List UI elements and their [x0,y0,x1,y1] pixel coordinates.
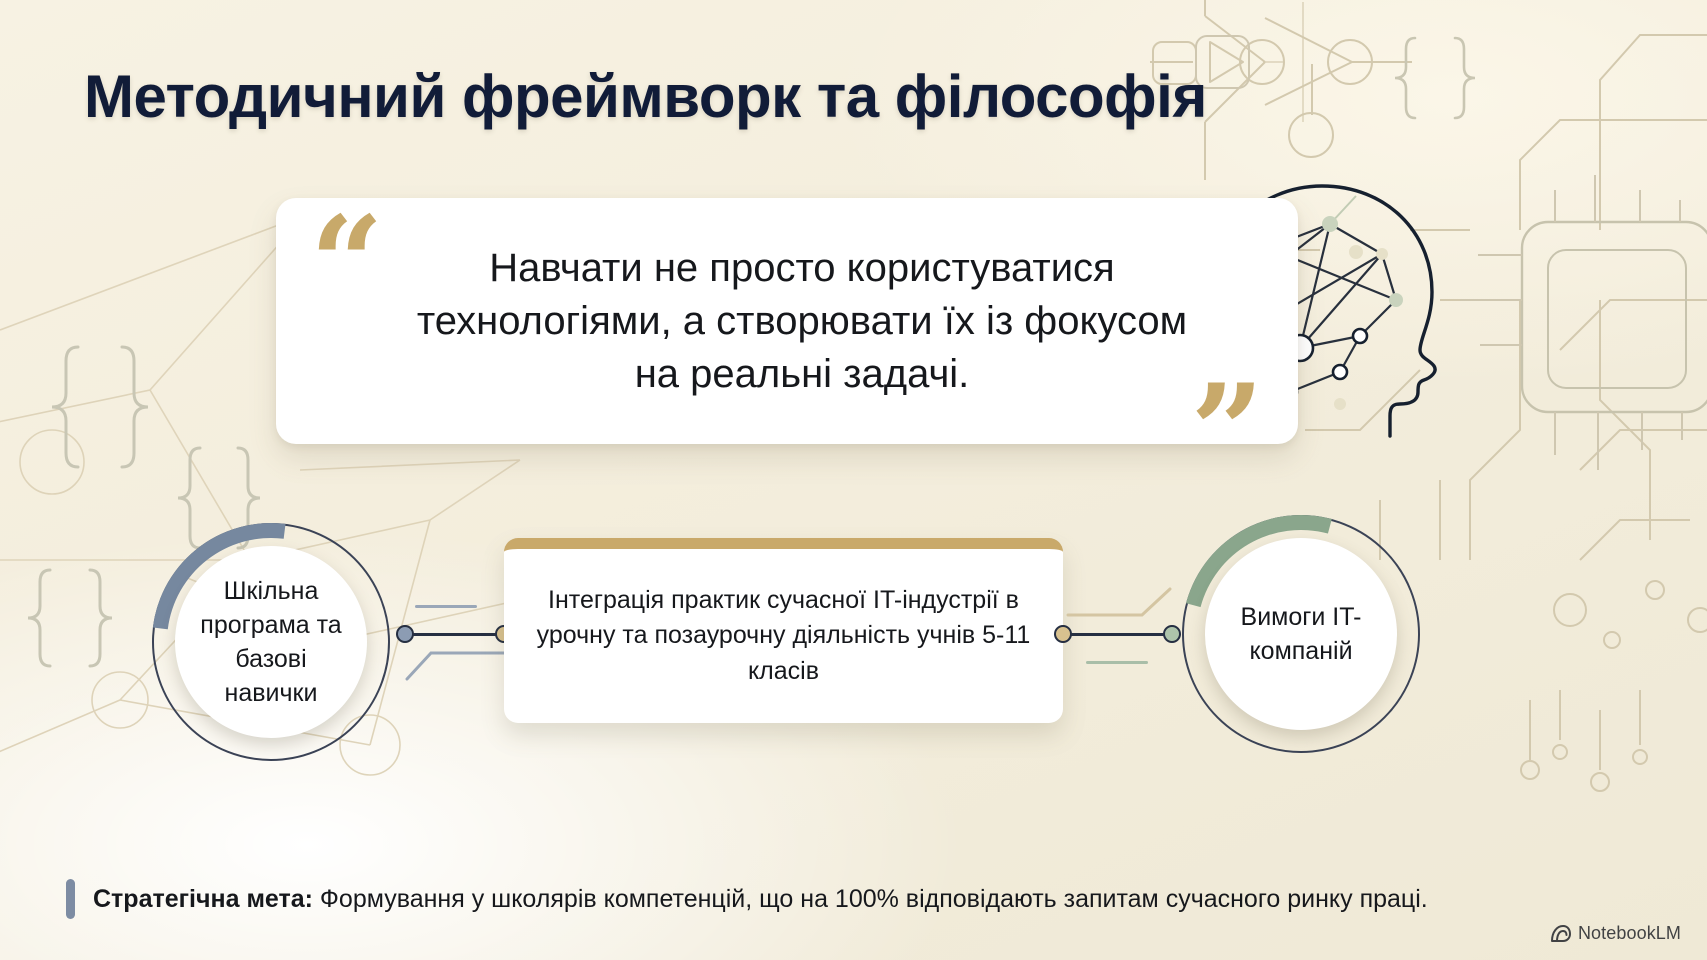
decor-svg [0,0,1707,960]
decor-chip-pins [1460,175,1707,470]
connector-right-bend [1066,587,1176,635]
notebooklm-spiral-icon [1549,924,1571,944]
flow-node-left[interactable]: Шкільна програма та базові навички [152,523,390,761]
notebooklm-watermark: NotebookLM [1549,923,1681,944]
flow-node-right[interactable]: Вимоги IT-компаній [1182,515,1420,753]
quote-text: Навчати не просто користуватися технолог… [392,242,1212,402]
connector-dot-right-inner [1054,625,1072,643]
slide-root: Методичний фреймворк та філософія “ Навч… [0,0,1707,960]
right-node-inner: Вимоги IT-компаній [1205,538,1397,730]
footer-body: Формування у школярів компетенцій, що на… [313,885,1428,913]
center-node-label: Інтеграція практик сучасної IT-індустрії… [526,583,1041,690]
quote-card: “ Навчати не просто користуватися технол… [276,198,1298,444]
footer-accent-bar [66,879,75,919]
decor-cpu-chip [1522,222,1707,412]
left-node-label: Шкільна програма та базові навички [187,574,355,710]
connector-right-deco-line [1086,661,1148,664]
left-node-inner: Шкільна програма та базові навички [175,546,367,738]
flow-diagram: Шкільна програма та базові навички Інтег… [0,505,1707,765]
decor-curly-braces-top-right [1395,38,1475,118]
quote-close-mark: ” [1190,368,1264,496]
watermark-label: NotebookLM [1578,923,1681,944]
footer-label: Стратегічна мета: [93,885,313,913]
page-title: Методичний фреймворк та філософія [84,62,1207,131]
decor-curly-braces-left [52,347,148,467]
connector-left-deco-line [415,605,477,608]
quote-open-mark: “ [310,200,384,328]
connector-dot-right-outer [1163,625,1181,643]
connector-dot-left-outer [396,625,414,643]
footer-strategic-goal: Стратегічна мета: Формування у школярів … [66,879,1428,919]
right-node-label: Вимоги IT-компаній [1217,600,1385,668]
background-decoration [0,0,1707,960]
footer-text: Стратегічна мета: Формування у школярів … [93,884,1428,914]
flow-node-center[interactable]: Інтеграція практик сучасної IT-індустрії… [504,538,1063,723]
